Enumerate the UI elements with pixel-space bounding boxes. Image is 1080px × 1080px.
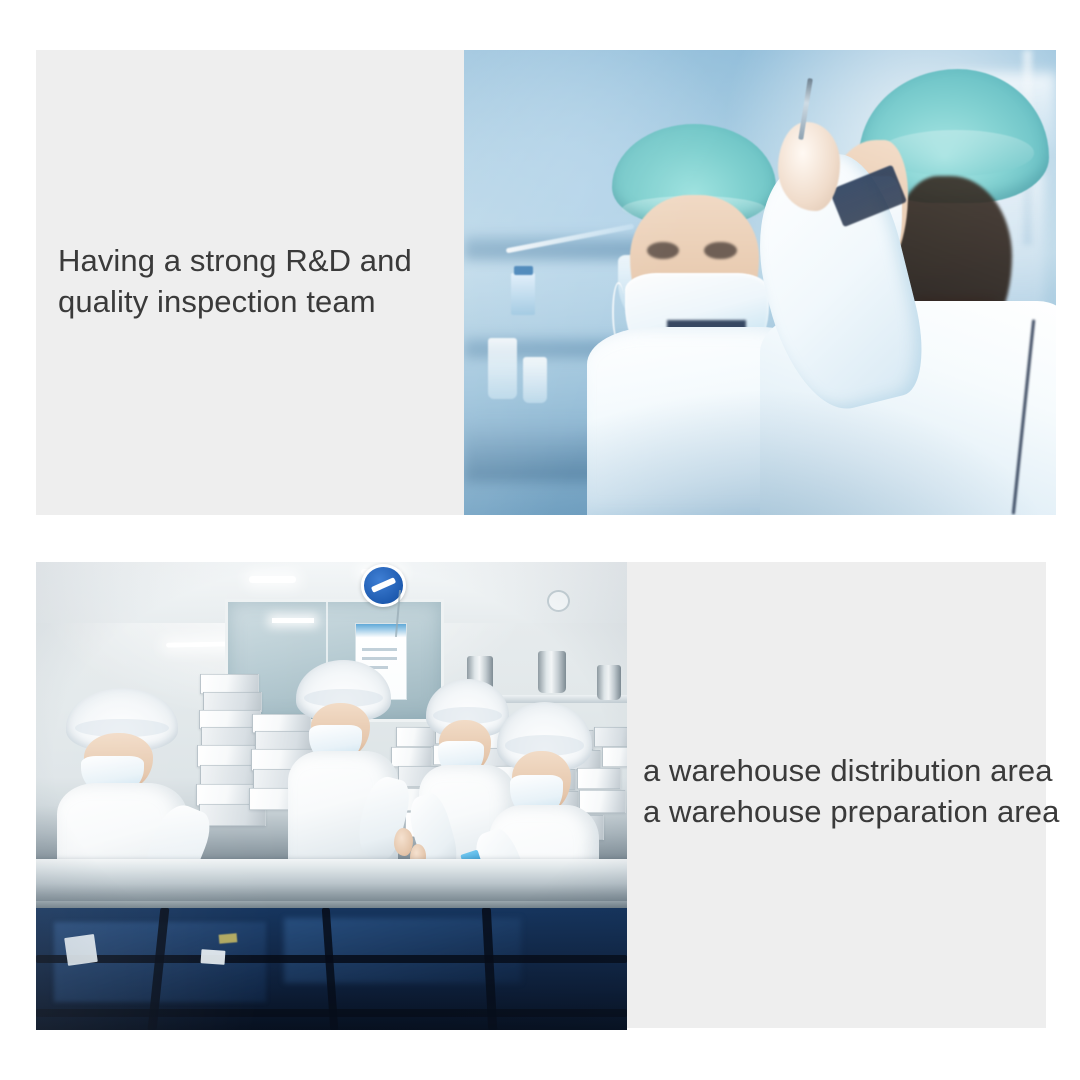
poster-canvas: Having a strong R&D and quality inspecti… bbox=[0, 0, 1080, 1080]
stainless-canister bbox=[538, 651, 565, 693]
warehouse-packing-photo bbox=[36, 562, 627, 1030]
stainless-work-table bbox=[36, 859, 627, 906]
table-crossbar bbox=[36, 1009, 627, 1017]
technician-eye-right bbox=[704, 242, 736, 260]
lab-technician-side bbox=[760, 69, 1056, 515]
lab-beaker-right bbox=[523, 357, 547, 404]
top-caption-line-2: quality inspection team bbox=[58, 281, 412, 322]
notice-line bbox=[362, 648, 397, 651]
lab-quality-inspection-photo bbox=[464, 50, 1056, 515]
lab-sample-vial bbox=[511, 273, 535, 315]
carton bbox=[594, 727, 627, 747]
bottom-caption-line-1: a warehouse distribution area bbox=[643, 750, 1059, 791]
bottom-caption: a warehouse distribution area a warehous… bbox=[643, 750, 1059, 832]
bottom-caption-line-2: a warehouse preparation area bbox=[643, 791, 1059, 832]
table-crossbar bbox=[36, 955, 627, 962]
carton bbox=[602, 747, 627, 767]
lab-beaker-left bbox=[488, 338, 518, 398]
gloved-hand bbox=[778, 122, 840, 211]
wall-clock-icon bbox=[547, 590, 570, 612]
loose-paper bbox=[201, 950, 226, 966]
ceiling-light-icon bbox=[249, 576, 296, 583]
yellow-marker bbox=[219, 933, 237, 944]
window-light-icon bbox=[272, 618, 313, 623]
warehouse-worker bbox=[296, 660, 391, 875]
loose-paper bbox=[64, 934, 97, 966]
top-caption-line-1: Having a strong R&D and bbox=[58, 240, 412, 281]
top-caption: Having a strong R&D and quality inspecti… bbox=[58, 240, 412, 322]
stainless-canister bbox=[597, 665, 621, 700]
